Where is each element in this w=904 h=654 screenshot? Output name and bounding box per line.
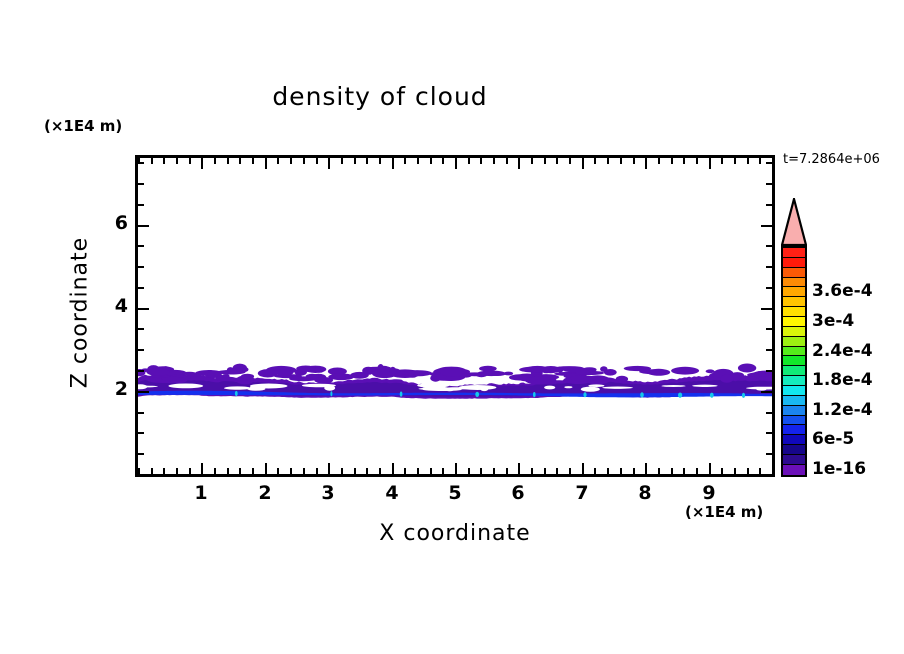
x-tick [239, 468, 241, 474]
colorbar-band [783, 366, 805, 376]
x-tick [709, 158, 711, 169]
plot-area [138, 158, 772, 474]
y-tick [138, 245, 144, 247]
y-tick [138, 412, 144, 414]
x-tick [658, 158, 660, 164]
x-tick [556, 158, 558, 164]
x-tick [620, 468, 622, 474]
y-tick [138, 453, 144, 455]
x-tick [747, 468, 749, 474]
x-tick [442, 158, 444, 164]
x-tick [556, 468, 558, 474]
y-tick [138, 266, 144, 268]
y-tick [138, 349, 144, 351]
x-tick [645, 158, 647, 169]
y-tick [138, 287, 144, 289]
y-tick [138, 328, 144, 330]
y-tick [766, 183, 772, 185]
x-tick [759, 158, 761, 164]
colorbar-tick-label: 3e-4 [812, 311, 854, 331]
y-tick [761, 308, 772, 310]
plot-frame [135, 155, 775, 477]
x-tick-label: 1 [181, 482, 221, 504]
x-tick [392, 158, 394, 169]
x-tick [518, 463, 520, 474]
x-tick [379, 158, 381, 164]
x-tick [569, 158, 571, 164]
x-tick [316, 158, 318, 164]
x-tick [379, 468, 381, 474]
x-tick [620, 158, 622, 164]
x-tick [227, 158, 229, 164]
x-tick [214, 158, 216, 164]
x-tick [506, 468, 508, 474]
colorbar-band [783, 435, 805, 445]
x-tick [696, 468, 698, 474]
x-tick [531, 158, 533, 164]
colorbar-band [783, 287, 805, 297]
x-tick [721, 468, 723, 474]
x-tick [417, 468, 419, 474]
y-tick-label: 2 [88, 378, 128, 400]
x-tick [518, 158, 520, 169]
x-axis-title: X coordinate [135, 521, 775, 546]
x-tick [189, 468, 191, 474]
x-tick [645, 463, 647, 474]
x-tick [607, 468, 609, 474]
colorbar-tick-label: 1.2e-4 [812, 400, 873, 420]
colorbar-band [783, 297, 805, 307]
colorbar-band [783, 386, 805, 396]
colorbar-band [783, 258, 805, 268]
colorbar-tick-label: 2.4e-4 [812, 341, 873, 361]
x-tick [366, 158, 368, 164]
x-tick [290, 468, 292, 474]
y-tick [761, 391, 772, 393]
colorbar-band [783, 337, 805, 347]
x-axis-unit-label: (×1E4 m) [685, 503, 763, 521]
colorbar-band [783, 268, 805, 278]
x-tick [506, 158, 508, 164]
x-tick-label: 2 [245, 482, 285, 504]
x-tick [442, 468, 444, 474]
x-tick [658, 468, 660, 474]
x-tick [341, 158, 343, 164]
x-tick [277, 158, 279, 164]
y-tick-label: 4 [88, 295, 128, 317]
x-tick [303, 158, 305, 164]
x-tick [189, 158, 191, 164]
x-tick [392, 463, 394, 474]
x-tick-label: 8 [625, 482, 665, 504]
chart-title: density of cloud [0, 82, 760, 111]
colorbar-band [783, 278, 805, 288]
y-tick [138, 225, 149, 227]
x-tick [721, 158, 723, 164]
colorbar-bands [781, 246, 807, 477]
z-axis-unit-label: (×1E4 m) [44, 117, 122, 135]
x-tick [671, 468, 673, 474]
x-tick [404, 158, 406, 164]
x-tick [734, 158, 736, 164]
x-tick [176, 158, 178, 164]
y-tick [138, 391, 149, 393]
colorbar-band [783, 347, 805, 357]
y-tick [766, 412, 772, 414]
x-tick [214, 468, 216, 474]
x-tick [633, 158, 635, 164]
y-tick [766, 474, 772, 476]
x-tick [709, 463, 711, 474]
x-tick [455, 158, 457, 169]
y-tick [138, 183, 144, 185]
y-tick [138, 162, 144, 164]
colorbar-band [783, 455, 805, 465]
y-tick [766, 432, 772, 434]
colorbar-band [783, 425, 805, 435]
figure-canvas: density of cloud (×1E4 m) (×1E4 m) X coo… [0, 0, 904, 654]
y-tick [761, 225, 772, 227]
colorbar-tick-label: 3.6e-4 [812, 281, 873, 301]
colorbar-band [783, 356, 805, 366]
colorbar-band [783, 416, 805, 426]
x-tick [201, 463, 203, 474]
x-tick [480, 468, 482, 474]
x-tick-label: 9 [689, 482, 729, 504]
x-tick [265, 158, 267, 169]
x-tick [176, 468, 178, 474]
y-tick [766, 204, 772, 206]
y-tick [766, 453, 772, 455]
x-tick [569, 468, 571, 474]
y-tick [766, 349, 772, 351]
x-tick [430, 158, 432, 164]
x-tick [163, 468, 165, 474]
x-tick [683, 158, 685, 164]
x-tick [734, 468, 736, 474]
x-tick [747, 158, 749, 164]
x-tick [354, 158, 356, 164]
x-tick [328, 158, 330, 169]
x-tick [607, 158, 609, 164]
x-tick [594, 468, 596, 474]
x-tick [303, 468, 305, 474]
x-tick [772, 468, 774, 474]
x-tick [239, 158, 241, 164]
x-tick [316, 468, 318, 474]
y-tick [138, 474, 144, 476]
x-tick-label: 5 [435, 482, 475, 504]
x-tick [201, 158, 203, 169]
colorbar-band [783, 406, 805, 416]
x-tick [163, 158, 165, 164]
x-tick [277, 468, 279, 474]
x-tick [290, 158, 292, 164]
colorbar-band [783, 376, 805, 386]
y-tick [766, 370, 772, 372]
x-tick [480, 158, 482, 164]
x-tick [493, 158, 495, 164]
y-tick [138, 204, 144, 206]
colorbar-band [783, 317, 805, 327]
x-tick [151, 468, 153, 474]
x-tick [582, 463, 584, 474]
x-tick [366, 468, 368, 474]
x-tick [759, 468, 761, 474]
x-tick [404, 468, 406, 474]
x-tick [531, 468, 533, 474]
x-tick [468, 468, 470, 474]
x-tick [544, 468, 546, 474]
x-tick [544, 158, 546, 164]
x-tick-label: 7 [562, 482, 602, 504]
colorbar-band [783, 396, 805, 406]
y-tick [766, 245, 772, 247]
colorbar-band [783, 248, 805, 258]
y-tick [138, 308, 149, 310]
x-tick-label: 6 [498, 482, 538, 504]
x-tick [671, 158, 673, 164]
x-tick [151, 158, 153, 164]
x-tick [683, 468, 685, 474]
y-tick [766, 328, 772, 330]
colorbar-tick-label: 1e-16 [812, 459, 866, 479]
colorbar-band [783, 327, 805, 337]
colorbar-tick-label: 1.8e-4 [812, 370, 873, 390]
y-tick [766, 287, 772, 289]
x-tick [594, 158, 596, 164]
contour-field [138, 158, 772, 474]
x-tick [430, 468, 432, 474]
y-tick [138, 370, 144, 372]
x-tick [265, 463, 267, 474]
x-tick [582, 158, 584, 169]
colorbar-band [783, 465, 805, 475]
colorbar-band [783, 307, 805, 317]
x-tick [252, 158, 254, 164]
x-tick [468, 158, 470, 164]
x-tick [227, 468, 229, 474]
time-annotation: t=7.2864e+06 [783, 152, 880, 167]
colorbar-tick-label: 6e-5 [812, 429, 854, 449]
x-tick [341, 468, 343, 474]
x-tick [252, 468, 254, 474]
x-tick-label: 3 [308, 482, 348, 504]
x-tick [493, 468, 495, 474]
x-tick [772, 158, 774, 164]
x-tick [633, 468, 635, 474]
x-tick [696, 158, 698, 164]
y-tick-label: 6 [88, 212, 128, 234]
x-tick [417, 158, 419, 164]
x-tick [354, 468, 356, 474]
y-tick [138, 432, 144, 434]
y-tick [766, 162, 772, 164]
x-tick [328, 463, 330, 474]
y-tick [766, 266, 772, 268]
colorbar-band [783, 445, 805, 455]
x-tick [455, 463, 457, 474]
x-tick-label: 4 [372, 482, 412, 504]
